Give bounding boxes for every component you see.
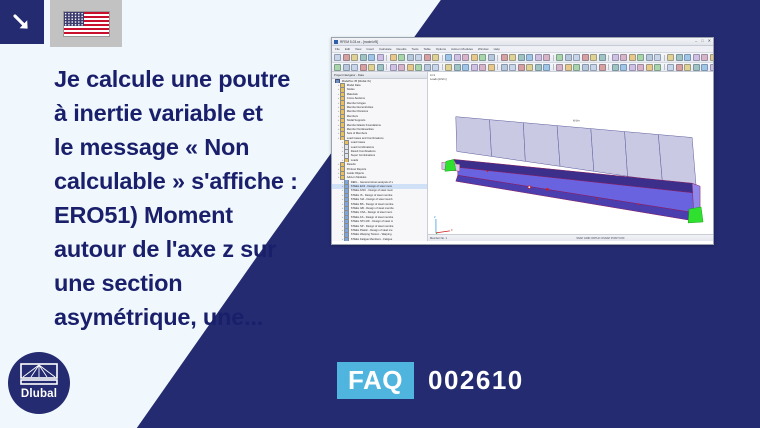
tree-item-label: STEEL Fatigue Members - Fatigue — [351, 238, 392, 241]
toolbar-button-icon[interactable] — [368, 64, 375, 71]
toolbar-button-icon[interactable] — [501, 64, 508, 71]
toolbar-button-icon[interactable] — [424, 64, 431, 71]
toolbar-button-icon[interactable] — [582, 64, 589, 71]
tree-item-label: STEEL Warping Torsion - Warping — [351, 233, 392, 236]
toolbar-button-icon[interactable] — [710, 64, 714, 71]
toolbar-button-icon[interactable] — [479, 64, 486, 71]
toolbar-button-icon[interactable] — [398, 64, 405, 71]
tree-item-label: STEEL CSA - Design of steel mem — [351, 211, 392, 214]
tree-item-label: STEEL EC3 - Design of steel mem — [351, 185, 392, 188]
tree-item-label: STEEL GB - Design of steel membe — [351, 207, 394, 210]
toolbar-button-icon[interactable] — [432, 54, 439, 61]
toolbar-button-icon[interactable] — [360, 64, 367, 71]
toolbar-button-icon[interactable] — [676, 54, 683, 61]
tree-item-label: Results — [347, 163, 356, 166]
tree-item-label: Printout Reports — [347, 168, 366, 171]
toolbar-primary[interactable] — [332, 53, 713, 63]
tree-item[interactable]: +STEEL Fatigue Members - Fatigue — [332, 237, 427, 241]
tree-item-label: Load Cases — [351, 141, 365, 144]
toolbar-button-icon[interactable] — [710, 54, 714, 61]
tree-label: Model5xx.rf5 [Dlubal.rfx] — [342, 80, 371, 83]
language-flag-chip[interactable] — [50, 0, 122, 47]
toolbar-button-icon[interactable] — [599, 64, 606, 71]
toolbar-button-icon[interactable] — [351, 54, 358, 61]
app-icon — [334, 40, 338, 44]
toolbar-separator — [608, 55, 609, 61]
toolbar-button-icon[interactable] — [590, 64, 597, 71]
tree-item-label: Cross-Sections — [347, 97, 365, 100]
faq-badge: FAQ — [337, 362, 414, 399]
us-flag-icon — [63, 11, 110, 37]
toolbar-button-icon[interactable] — [535, 54, 542, 61]
toolbar-button-icon[interactable] — [488, 54, 495, 61]
toolbar-button-icon[interactable] — [445, 54, 452, 61]
toolbar-button-icon[interactable] — [637, 64, 644, 71]
tree-item-label: Materials — [347, 93, 358, 96]
menu-item[interactable]: Add-on Modules — [451, 47, 473, 51]
menu-item[interactable]: Results — [397, 47, 407, 51]
menu-item[interactable]: Tools — [412, 47, 419, 51]
window-controls[interactable]: – □ ✕ — [695, 39, 711, 43]
toolbar-button-icon[interactable] — [565, 64, 572, 71]
toolbar-button-icon[interactable] — [509, 54, 516, 61]
toolbar-button-icon[interactable] — [415, 54, 422, 61]
toolbar-separator — [442, 55, 443, 61]
application-screenshot: RFEM 5.03.xx - [model.rf5] – □ ✕ File Ed… — [331, 37, 714, 245]
menu-item[interactable]: Table — [424, 47, 431, 51]
toolbar-button-icon[interactable] — [432, 64, 439, 71]
toolbar-secondary[interactable] — [332, 63, 713, 72]
toolbar-separator — [553, 64, 554, 70]
window-title: RFEM 5.03.xx - [model.rf5] — [340, 40, 378, 44]
toolbar-button-icon[interactable] — [590, 54, 597, 61]
toolbar-button-icon[interactable] — [398, 54, 405, 61]
project-navigator[interactable]: Project Navigator - Data -Model5xx.rf5 [… — [332, 72, 428, 241]
toolbar-button-icon[interactable] — [646, 64, 653, 71]
tree-item-label: Super Combinations — [351, 154, 375, 157]
toolbar-button-icon[interactable] — [573, 54, 580, 61]
beam-model-graphic: kN/m — [428, 72, 713, 241]
window-titlebar: RFEM 5.03.xx - [model.rf5] – □ ✕ — [332, 38, 713, 46]
toolbar-button-icon[interactable] — [488, 64, 495, 71]
toolbar-button-icon[interactable] — [612, 64, 619, 71]
menu-item[interactable]: Calculate — [379, 47, 392, 51]
flag-stars — [64, 12, 84, 26]
tree-item-label: Member Eccentricities — [347, 106, 373, 109]
menu-item[interactable]: File — [335, 47, 340, 51]
toolbar-button-icon[interactable] — [543, 64, 550, 71]
faq-number: 002610 — [428, 362, 524, 399]
page-title: Je calcule une poutre à inertie variable… — [54, 62, 322, 334]
toolbar-button-icon[interactable] — [654, 54, 661, 61]
svg-text:Z: Z — [434, 215, 436, 219]
toolbar-button-icon[interactable] — [518, 54, 525, 61]
brand-name: Dlubal — [8, 388, 70, 400]
toolbar-button-icon[interactable] — [407, 54, 414, 61]
toolbar-separator — [664, 64, 665, 70]
toolbar-button-icon[interactable] — [351, 64, 358, 71]
status-right: SNAP GRID ORTHO OSNAP POINT DXF — [576, 237, 625, 240]
svg-text:X: X — [451, 228, 453, 232]
toolbar-button-icon[interactable] — [471, 54, 478, 61]
tree-item-label: Load Cases and Combinations — [347, 137, 384, 140]
tree-item-label: STEEL AS - Design of steel membe — [351, 216, 393, 219]
toolbar-button-icon[interactable] — [471, 64, 478, 71]
toolbar-button-icon[interactable] — [334, 54, 341, 61]
tree-item-label: DEFL - General stress analysis of s — [351, 181, 393, 184]
menu-item[interactable]: Edit — [345, 47, 350, 51]
toolbar-button-icon[interactable] — [377, 64, 384, 71]
toolbar-button-icon[interactable] — [390, 64, 397, 71]
toolbar-button-icon[interactable] — [501, 54, 508, 61]
toolbar-button-icon[interactable] — [407, 64, 414, 71]
toolbar-button-icon[interactable] — [390, 54, 397, 61]
toolbar-button-icon[interactable] — [693, 54, 700, 61]
window-body: Project Navigator - Data -Model5xx.rf5 [… — [332, 72, 713, 241]
toolbar-button-icon[interactable] — [676, 64, 683, 71]
maximize-icon[interactable]: □ — [701, 39, 703, 43]
tree-item-label: STEEL SP - Design of steel membe — [351, 225, 394, 228]
toolbar-button-icon[interactable] — [454, 54, 461, 61]
toolbar-button-icon[interactable] — [368, 54, 375, 61]
toolbar-button-icon[interactable] — [701, 54, 708, 61]
tree-item-label: Member Divisions — [347, 110, 368, 113]
menu-item[interactable]: Window — [478, 47, 489, 51]
menu-item[interactable]: Options — [436, 47, 446, 51]
toolbar-button-icon[interactable] — [462, 64, 469, 71]
faq-card: Je calcule une poutre à inertie variable… — [0, 0, 760, 428]
toolbar-button-icon[interactable] — [518, 64, 525, 71]
dlubal-logo[interactable]: Dlubal — [8, 352, 70, 414]
arrow-down-right-icon[interactable] — [0, 0, 44, 44]
toolbar-separator — [608, 64, 609, 70]
status-bar: Member No. 1 SNAP GRID ORTHO OSNAP POINT… — [428, 234, 713, 241]
tree-item-label: Nodes — [347, 88, 355, 91]
toolbar-button-icon[interactable] — [629, 64, 636, 71]
tree-item-label: Nodal Supports — [347, 119, 366, 122]
toolbar-separator — [442, 64, 443, 70]
toolbar-separator — [386, 64, 387, 70]
close-icon[interactable]: ✕ — [708, 39, 711, 43]
toolbar-button-icon[interactable] — [556, 54, 563, 61]
toolbar-button-icon[interactable] — [654, 64, 661, 71]
tree-item-label: Member Hinges — [347, 102, 366, 105]
toolbar-button-icon[interactable] — [360, 54, 367, 61]
menu-item[interactable]: View — [355, 47, 361, 51]
toolbar-button-icon[interactable] — [573, 64, 580, 71]
dlubal-frame-icon — [20, 363, 58, 387]
tree-item-label: Sets of Members — [347, 132, 367, 135]
toolbar-button-icon[interactable] — [454, 64, 461, 71]
toolbar-button-icon[interactable] — [535, 64, 542, 71]
toolbar-button-icon[interactable] — [343, 64, 350, 71]
toolbar-button-icon[interactable] — [582, 54, 589, 61]
toolbar-button-icon[interactable] — [667, 54, 674, 61]
tree-item-label: Loads — [351, 159, 358, 162]
toolbar-button-icon[interactable] — [599, 54, 606, 61]
toolbar-button-icon[interactable] — [667, 64, 674, 71]
toolbar-button-icon[interactable] — [445, 64, 452, 71]
toolbar-separator — [497, 64, 498, 70]
svg-text:kN/m: kN/m — [573, 119, 580, 123]
tree-item-label: Guide Objects — [347, 172, 364, 175]
tree-item-label: STEEL IS - Design of steel membe — [351, 194, 393, 197]
toolbar-button-icon[interactable] — [693, 64, 700, 71]
toolbar-button-icon[interactable] — [620, 54, 627, 61]
toolbar-button-icon[interactable] — [646, 54, 653, 61]
toolbar-separator — [386, 55, 387, 61]
toolbar-button-icon[interactable] — [629, 54, 636, 61]
tree-item-label: STEEL Plastic - Design of steel me — [351, 229, 393, 232]
toolbar-button-icon[interactable] — [377, 54, 384, 61]
toolbar-separator — [664, 55, 665, 61]
toolbar-button-icon[interactable] — [424, 54, 431, 61]
module-icon — [344, 237, 349, 241]
toolbar-button-icon[interactable] — [343, 54, 350, 61]
tree-item-label: STEEL SIA - Design of steel memb — [351, 198, 393, 201]
tree-item-label: Model Data — [347, 84, 361, 87]
toolbar-button-icon[interactable] — [543, 54, 550, 61]
toolbar-button-icon[interactable] — [509, 64, 516, 71]
navigator-tree[interactable]: -Model5xx.rf5 [Dlubal.rfx]+Model Data+No… — [332, 79, 427, 241]
tree-item-label: STEEL BS - Design of steel membe — [351, 203, 394, 206]
navigator-header: Project Navigator - Data — [332, 72, 427, 79]
toolbar-button-icon[interactable] — [334, 64, 341, 71]
toolbar-separator — [497, 55, 498, 61]
tree-item-label: STEEL NTC-DF - Design of steel m — [351, 220, 393, 223]
toolbar-button-icon[interactable] — [462, 54, 469, 61]
tree-item-label: Member Nonlinearities — [347, 128, 374, 131]
toolbar-button-icon[interactable] — [526, 54, 533, 61]
toolbar-button-icon[interactable] — [701, 64, 708, 71]
toolbar-button-icon[interactable] — [620, 64, 627, 71]
toolbar-button-icon[interactable] — [684, 64, 691, 71]
toolbar-button-icon[interactable] — [556, 64, 563, 71]
menu-bar[interactable]: File Edit View Insert Calculate Results … — [332, 46, 713, 53]
toolbar-button-icon[interactable] — [565, 54, 572, 61]
toolbar-separator — [553, 55, 554, 61]
model-canvas[interactable]: LC1 Loads [kN/m] kN/m — [428, 72, 713, 241]
toolbar-button-icon[interactable] — [637, 54, 644, 61]
menu-item[interactable]: Insert — [366, 47, 374, 51]
tree-item-label: Members — [347, 115, 358, 118]
tree-item-label: Result Combinations — [351, 150, 376, 153]
status-left: Member No. 1 — [430, 237, 447, 240]
menu-item[interactable]: Help — [494, 47, 500, 51]
tree-item-label: STEEL AISC - Design of steel mem — [351, 189, 393, 192]
toolbar-button-icon[interactable] — [684, 54, 691, 61]
tree-item-label: Member Elastic Foundations — [347, 124, 381, 127]
tree-item-label: Add-on Modules — [347, 176, 367, 179]
toolbar-button-icon[interactable] — [479, 54, 486, 61]
toolbar-button-icon[interactable] — [612, 54, 619, 61]
minimize-icon[interactable]: – — [695, 39, 697, 43]
toolbar-button-icon[interactable] — [415, 64, 422, 71]
toolbar-button-icon[interactable] — [526, 64, 533, 71]
tree-item-label: Load Combinations — [351, 146, 374, 149]
